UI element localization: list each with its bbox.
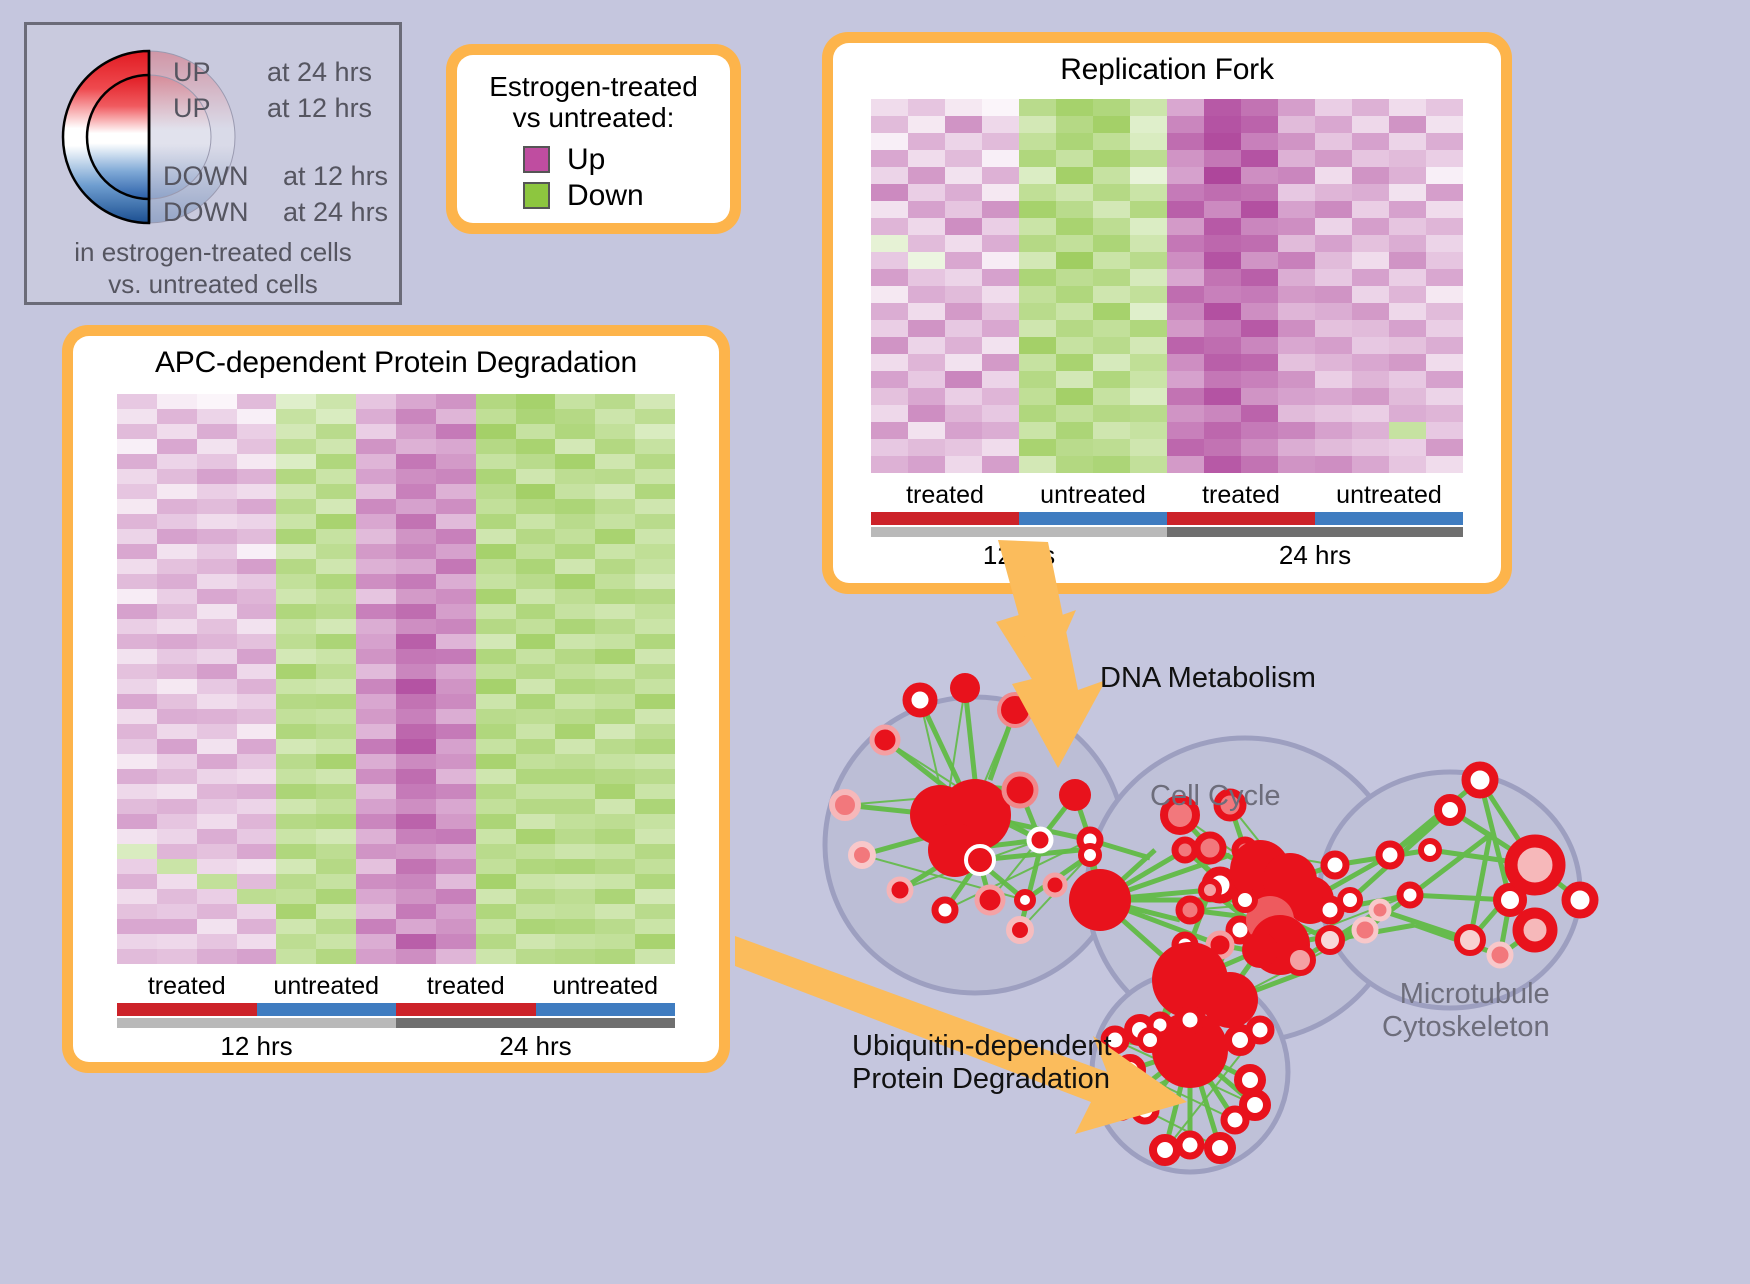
heatmap-cell (1056, 99, 1093, 116)
heatmap-cell (516, 874, 556, 889)
heatmap-cell (356, 589, 396, 604)
heatmap-cell (555, 709, 595, 724)
heatmap-cell (197, 694, 237, 709)
heatmap-cell (555, 634, 595, 649)
heatmap-cell (1056, 320, 1093, 337)
heatmap-cell (436, 409, 476, 424)
heatmap-cell (1093, 150, 1130, 167)
heatmap-cell (516, 859, 556, 874)
heatmap-cell (436, 394, 476, 409)
heatmap-cell (117, 559, 157, 574)
heatmap-cell (1056, 354, 1093, 371)
heatmap-cell (117, 409, 157, 424)
heatmap-cell (276, 514, 316, 529)
heatmap-cell (1204, 218, 1241, 235)
legend-heading-line-2: vs untreated: (457, 102, 730, 133)
heatmap-cell (1167, 235, 1204, 252)
heatmap-cell (871, 218, 908, 235)
heatmap-cell (356, 559, 396, 574)
heatmap-cell (476, 874, 516, 889)
heatmap-cell (516, 559, 556, 574)
heatmap-cell (1167, 405, 1204, 422)
heatmap-cell (1426, 167, 1463, 184)
heatmap-cell (871, 439, 908, 456)
heatmap-cell (1019, 167, 1056, 184)
heatmap-cell (476, 904, 516, 919)
legend-heading-line-1: Estrogen-treated (457, 71, 730, 102)
heatmap-cell (237, 859, 277, 874)
apc-degradation-title: APC-dependent Protein Degradation (73, 336, 719, 380)
heatmap-cell (157, 619, 197, 634)
heatmap-cell (356, 754, 396, 769)
heatmap-cell (1093, 252, 1130, 269)
heatmap-cell (237, 934, 277, 949)
heatmap-cell (396, 529, 436, 544)
heatmap-cell (1426, 99, 1463, 116)
heatmap-cell (1315, 371, 1352, 388)
heatmap-cell (982, 99, 1019, 116)
heatmap-cell (635, 769, 675, 784)
heatmap-cell (635, 484, 675, 499)
heatmap-cell (237, 919, 277, 934)
heatmap-cell (555, 919, 595, 934)
heatmap-cell (436, 949, 476, 964)
heatmap-cell (982, 252, 1019, 269)
heatmap-cell (908, 354, 945, 371)
heatmap-cell (555, 529, 595, 544)
heatmap-cell (276, 484, 316, 499)
heatmap-cell (1019, 116, 1056, 133)
heatmap-cell (476, 949, 516, 964)
heatmap-cell (871, 167, 908, 184)
heatmap-cell (635, 709, 675, 724)
heatmap-cell (476, 469, 516, 484)
heatmap-cell (276, 874, 316, 889)
caption-line-2: vs. untreated cells (27, 269, 399, 301)
heatmap-cell (1389, 133, 1426, 150)
cluster-label-microtubule-cytoskeleton: Microtubule Cytoskeleton (1382, 978, 1550, 1045)
heatmap-cell (237, 754, 277, 769)
heatmap-cell (157, 634, 197, 649)
heatmap-cell (871, 133, 908, 150)
heatmap-cell (197, 559, 237, 574)
heatmap-cell (276, 634, 316, 649)
heatmap-cell (1056, 201, 1093, 218)
heatmap-cell (476, 484, 516, 499)
heatmap-cell (396, 439, 436, 454)
heatmap-cell (1019, 235, 1056, 252)
heatmap-cell (871, 184, 908, 201)
heatmap-cell (1315, 337, 1352, 354)
heatmap-cell (1093, 269, 1130, 286)
heatmap-cell (635, 529, 675, 544)
heatmap-cell (945, 116, 982, 133)
heatmap-cell (476, 919, 516, 934)
heatmap-cell (595, 559, 635, 574)
heatmap-cell (197, 679, 237, 694)
heatmap-cell (595, 469, 635, 484)
heatmap-cell (1056, 133, 1093, 150)
heatmap-cell (276, 529, 316, 544)
heatmap-cell (316, 889, 356, 904)
heatmap-cell (316, 694, 356, 709)
time-label: 24 hrs (1167, 540, 1463, 571)
heatmap-cell (871, 252, 908, 269)
heatmap-cell (396, 799, 436, 814)
heatmap-cell (356, 769, 396, 784)
heatmap-cell (396, 664, 436, 679)
heatmap-cell (516, 454, 556, 469)
heatmap-cell (396, 469, 436, 484)
heatmap-cell (1167, 337, 1204, 354)
heatmap-cell (237, 889, 277, 904)
heatmap-cell (595, 529, 635, 544)
heatmap-cell (1093, 405, 1130, 422)
heatmap-cell (516, 934, 556, 949)
heatmap-cell (356, 499, 396, 514)
heatmap-cell (1204, 184, 1241, 201)
heatmap-cell (1167, 133, 1204, 150)
heatmap-cell (197, 889, 237, 904)
heatmap-cell (945, 405, 982, 422)
heatmap-cell (396, 679, 436, 694)
heatmap-cell (117, 814, 157, 829)
heatmap-cell (197, 769, 237, 784)
heatmap-cell (157, 664, 197, 679)
heatmap-cell (1389, 456, 1426, 473)
heatmap-cell (1204, 133, 1241, 150)
heatmap-cell (595, 769, 635, 784)
heatmap-cell (945, 269, 982, 286)
heatmap-cell (316, 634, 356, 649)
heatmap-cell (595, 454, 635, 469)
heatmap-cell (276, 439, 316, 454)
heatmap-cell (1130, 320, 1167, 337)
heatmap-cell (516, 739, 556, 754)
heatmap-cell (1204, 371, 1241, 388)
key-direction-3: DOWN (163, 197, 248, 228)
heatmap-cell (1130, 201, 1167, 218)
heatmap-cell (1019, 133, 1056, 150)
heatmap-cell (316, 469, 356, 484)
heatmap-cell (316, 559, 356, 574)
heatmap-cell (1241, 303, 1278, 320)
legend-label-down: Down (567, 181, 644, 211)
up-swatch-icon (523, 146, 550, 173)
heatmap-cell (117, 889, 157, 904)
condition-color-bar (536, 1003, 676, 1016)
heatmap-cell (237, 619, 277, 634)
colour-key-box: UP at 24 hrs UP at 12 hrs DOWN at 12 hrs… (24, 22, 402, 305)
heatmap-cell (1167, 422, 1204, 439)
heatmap-cell (595, 739, 635, 754)
heatmap-cell (1426, 235, 1463, 252)
heatmap-cell (1204, 252, 1241, 269)
heatmap-cell (237, 844, 277, 859)
heatmap-cell (516, 769, 556, 784)
heatmap-cell (595, 634, 635, 649)
condition-label: treated (871, 481, 1019, 510)
heatmap-cell (237, 664, 277, 679)
heatmap-cell (157, 604, 197, 619)
heatmap-cell (1167, 116, 1204, 133)
heatmap-cell (117, 394, 157, 409)
heatmap-cell (356, 679, 396, 694)
heatmap-cell (396, 544, 436, 559)
heatmap-cell (635, 409, 675, 424)
heatmap-cell (1204, 99, 1241, 116)
apc-condition-labels: treateduntreatedtreateduntreated (117, 972, 675, 1001)
heatmap-cell (157, 874, 197, 889)
heatmap-cell (157, 739, 197, 754)
heatmap-cell (871, 405, 908, 422)
heatmap-cell (1278, 150, 1315, 167)
heatmap-cell (1352, 116, 1389, 133)
heatmap-cell (117, 679, 157, 694)
heatmap-cell (595, 889, 635, 904)
heatmap-cell (436, 454, 476, 469)
heatmap-cell (316, 664, 356, 679)
heatmap-cell (157, 589, 197, 604)
heatmap-cell (635, 394, 675, 409)
heatmap-cell (237, 784, 277, 799)
heatmap-cell (316, 514, 356, 529)
heatmap-cell (476, 739, 516, 754)
heatmap-cell (237, 949, 277, 964)
heatmap-cell (945, 439, 982, 456)
heatmap-cell (276, 919, 316, 934)
heatmap-cell (396, 454, 436, 469)
heatmap-cell (635, 919, 675, 934)
heatmap-cell (316, 859, 356, 874)
legend-label-up: Up (567, 145, 605, 175)
heatmap-cell (157, 859, 197, 874)
heatmap-cell (356, 544, 396, 559)
heatmap-cell (316, 919, 356, 934)
heatmap-cell (1241, 235, 1278, 252)
heatmap-cell (1278, 303, 1315, 320)
heatmap-cell (516, 589, 556, 604)
heatmap-cell (1389, 405, 1426, 422)
heatmap-cell (1130, 354, 1167, 371)
heatmap-cell (555, 949, 595, 964)
heatmap-cell (316, 499, 356, 514)
heatmap-cell (476, 619, 516, 634)
heatmap-cell (1130, 269, 1167, 286)
heatmap-cell (117, 874, 157, 889)
heatmap-cell (197, 424, 237, 439)
heatmap-cell (117, 484, 157, 499)
heatmap-cell (595, 589, 635, 604)
heatmap-cell (356, 664, 396, 679)
condition-color-bar (117, 1003, 257, 1016)
heatmap-cell (555, 739, 595, 754)
heatmap-cell (1241, 184, 1278, 201)
time-color-bar (871, 527, 1167, 537)
heatmap-cell (157, 574, 197, 589)
heatmap-cell (157, 424, 197, 439)
heatmap-cell (555, 574, 595, 589)
heatmap-cell (1130, 116, 1167, 133)
legend-items: Up Down (457, 142, 730, 214)
heatmap-cell (1130, 252, 1167, 269)
heatmap-cell (871, 388, 908, 405)
heatmap-cell (595, 919, 635, 934)
heatmap-cell (157, 844, 197, 859)
heatmap-cell (908, 439, 945, 456)
key-time-1: at 12 hrs (267, 93, 372, 124)
heatmap-cell (1019, 286, 1056, 303)
heatmap-cell (982, 184, 1019, 201)
heatmap-cell (1352, 405, 1389, 422)
heatmap-cell (1167, 439, 1204, 456)
heatmap-cell (157, 454, 197, 469)
heatmap-cell (982, 371, 1019, 388)
heatmap-cell (982, 354, 1019, 371)
heatmap-cell (595, 694, 635, 709)
caption-line-1: in estrogen-treated cells (27, 237, 399, 269)
heatmap-cell (476, 574, 516, 589)
heatmap-cell (356, 574, 396, 589)
heatmap-cell (1426, 354, 1463, 371)
heatmap-cell (1130, 235, 1167, 252)
heatmap-cell (1019, 201, 1056, 218)
apc-heatmap (117, 394, 675, 964)
heatmap-cell (1241, 201, 1278, 218)
heatmap-cell (1278, 388, 1315, 405)
heatmap-cell (157, 439, 197, 454)
heatmap-cell (908, 405, 945, 422)
key-direction-1: UP (173, 93, 211, 124)
heatmap-cell (1389, 167, 1426, 184)
heatmap-cell (1056, 303, 1093, 320)
heatmap-cell (1093, 116, 1130, 133)
heatmap-cell (945, 286, 982, 303)
heatmap-cell (476, 934, 516, 949)
heatmap-cell (945, 99, 982, 116)
heatmap-cell (516, 784, 556, 799)
heatmap-cell (635, 754, 675, 769)
heatmap-cell (316, 769, 356, 784)
heatmap-cell (1352, 133, 1389, 150)
heatmap-cell (117, 499, 157, 514)
heatmap-cell (197, 934, 237, 949)
heatmap-cell (555, 814, 595, 829)
heatmap-cell (1130, 99, 1167, 116)
heatmap-cell (1352, 371, 1389, 388)
heatmap-cell (396, 694, 436, 709)
heatmap-cell (516, 754, 556, 769)
heatmap-cell (476, 679, 516, 694)
heatmap-cell (476, 814, 516, 829)
heatmap-cell (1315, 439, 1352, 456)
apc-degradation-panel: APC-dependent Protein Degradation treate… (62, 325, 730, 1073)
heatmap-cell (555, 844, 595, 859)
heatmap-cell (595, 679, 635, 694)
heatmap-cell (117, 454, 157, 469)
heatmap-cell (871, 235, 908, 252)
heatmap-cell (516, 799, 556, 814)
heatmap-cell (1241, 456, 1278, 473)
heatmap-cell (197, 754, 237, 769)
heatmap-cell (1315, 286, 1352, 303)
heatmap-cell (908, 286, 945, 303)
heatmap-cell (1278, 252, 1315, 269)
heatmap-cell (595, 619, 635, 634)
heatmap-cell (1056, 116, 1093, 133)
heatmap-cell (157, 709, 197, 724)
heatmap-cell (396, 934, 436, 949)
heatmap-cell (276, 859, 316, 874)
heatmap-cell (1352, 235, 1389, 252)
heatmap-cell (1204, 320, 1241, 337)
heatmap-cell (1315, 422, 1352, 439)
heatmap-cell (197, 409, 237, 424)
heatmap-cell (197, 604, 237, 619)
heatmap-cell (982, 133, 1019, 150)
heatmap-cell (396, 769, 436, 784)
heatmap-cell (982, 405, 1019, 422)
heatmap-cell (396, 604, 436, 619)
heatmap-cell (396, 814, 436, 829)
heatmap-cell (276, 499, 316, 514)
heatmap-cell (516, 394, 556, 409)
heatmap-cell (117, 619, 157, 634)
heatmap-cell (237, 484, 277, 499)
heatmap-cell (436, 544, 476, 559)
heatmap-cell (1352, 167, 1389, 184)
heatmap-cell (237, 904, 277, 919)
heatmap-cell (157, 799, 197, 814)
heatmap-cell (237, 559, 277, 574)
heatmap-cell (1204, 269, 1241, 286)
heatmap-cell (476, 454, 516, 469)
heatmap-cell (436, 439, 476, 454)
heatmap-cell (908, 320, 945, 337)
heatmap-cell (197, 469, 237, 484)
heatmap-cell (436, 514, 476, 529)
heatmap-cell (276, 799, 316, 814)
heatmap-cell (396, 859, 436, 874)
heatmap-cell (1167, 354, 1204, 371)
heatmap-cell (436, 649, 476, 664)
heatmap-cell (595, 949, 635, 964)
heatmap-cell (1130, 388, 1167, 405)
heatmap-cell (871, 456, 908, 473)
heatmap-cell (316, 904, 356, 919)
heatmap-cell (908, 184, 945, 201)
heatmap-cell (1204, 337, 1241, 354)
heatmap-cell (117, 544, 157, 559)
heatmap-cell (1056, 388, 1093, 405)
heatmap-cell (316, 394, 356, 409)
heatmap-cell (908, 133, 945, 150)
heatmap-cell (871, 99, 908, 116)
heatmap-cell (476, 709, 516, 724)
heatmap-cell (1241, 422, 1278, 439)
heatmap-cell (516, 724, 556, 739)
heatmap-cell (1019, 422, 1056, 439)
heatmap-cell (595, 844, 635, 859)
heatmap-cell (476, 439, 516, 454)
heatmap-cell (1278, 439, 1315, 456)
heatmap-cell (197, 574, 237, 589)
heatmap-cell (276, 694, 316, 709)
heatmap-cell (1241, 405, 1278, 422)
heatmap-cell (476, 559, 516, 574)
heatmap-cell (436, 529, 476, 544)
replication-fork-title: Replication Fork (833, 43, 1501, 87)
